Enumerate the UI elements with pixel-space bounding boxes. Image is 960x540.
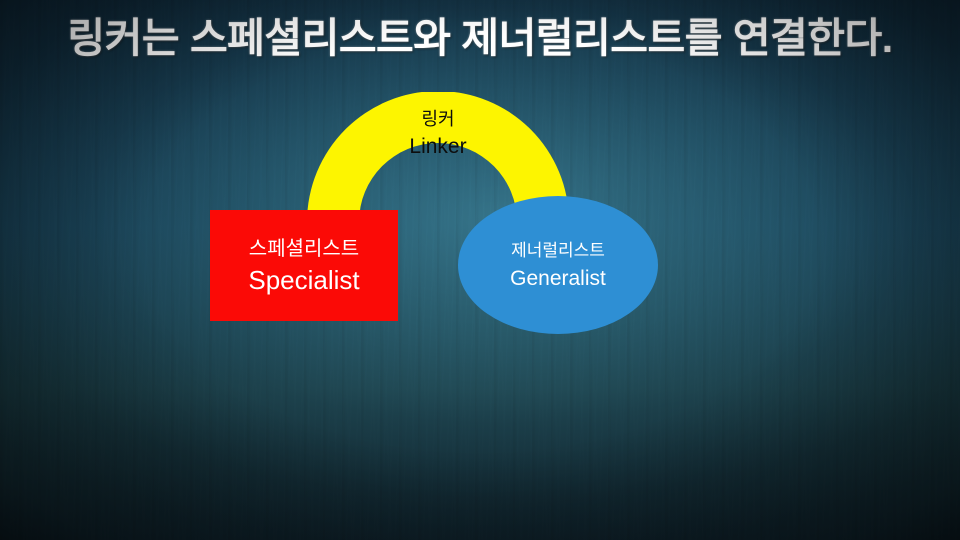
- linker-diagram: 링커 Linker 스페셜리스트 Specialist 제너럴리스트 Gener…: [0, 0, 960, 540]
- specialist-label-en: Specialist: [248, 264, 359, 297]
- generalist-label-en: Generalist: [510, 264, 606, 293]
- connector-label: 링커 Linker: [348, 106, 528, 160]
- generalist-label-ko: 제너럴리스트: [511, 238, 605, 264]
- generalist-node[interactable]: 제너럴리스트 Generalist: [458, 196, 658, 334]
- slide-canvas: 링커는 스페셜리스트와 제너럴리스트를 연결한다. 링커 Linker 스페셜리…: [0, 0, 960, 540]
- connector-label-en: Linker: [348, 133, 528, 160]
- specialist-node[interactable]: 스페셜리스트 Specialist: [210, 210, 398, 321]
- specialist-label-ko: 스페셜리스트: [249, 234, 359, 264]
- connector-label-ko: 링커: [348, 106, 528, 133]
